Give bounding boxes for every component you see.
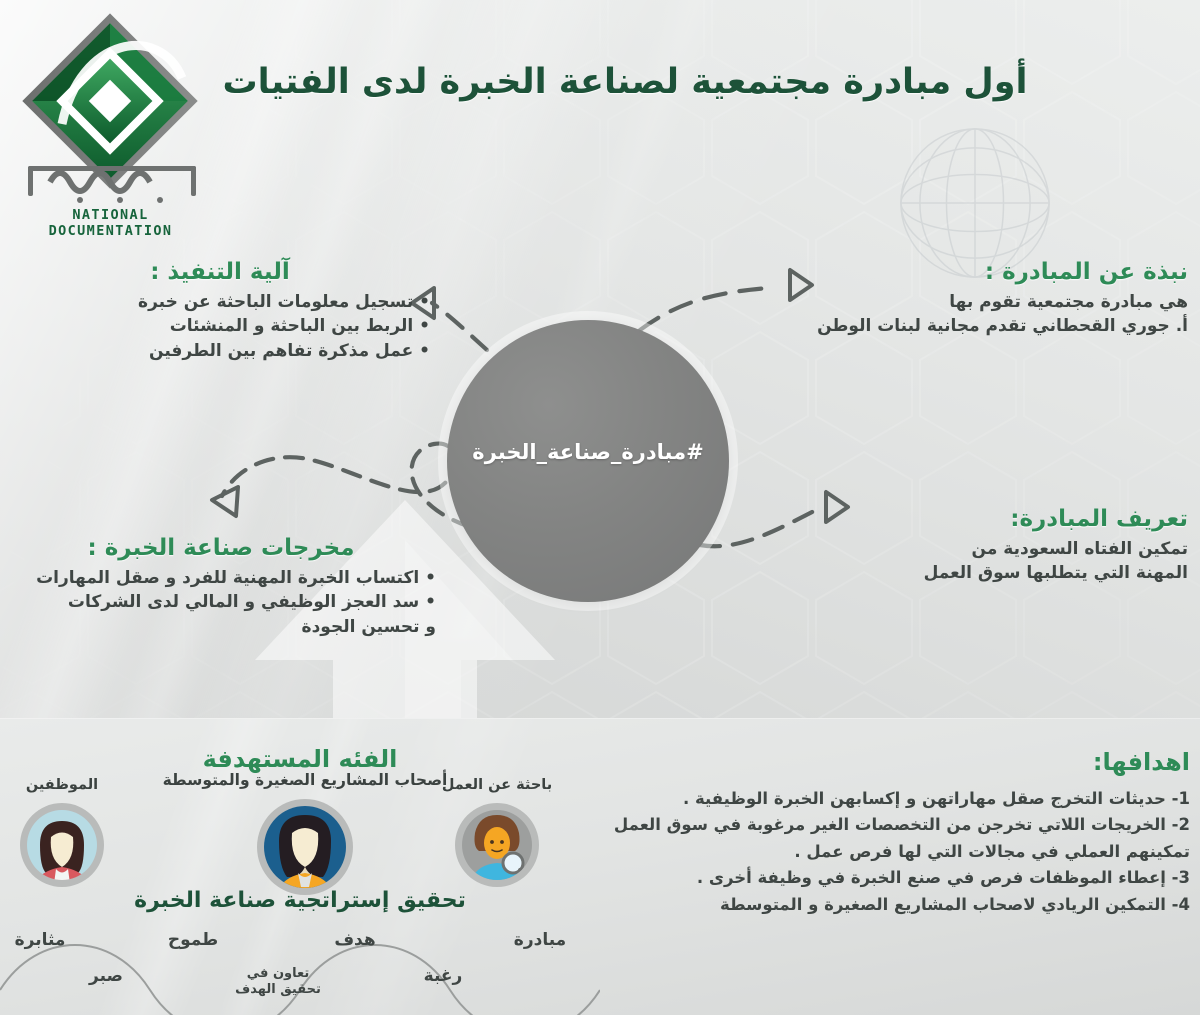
outputs-item: و تحسين الجودة	[6, 615, 436, 640]
definition-line: تمكين الفتاه السعودية من	[708, 537, 1188, 562]
strategy-word: صبر	[56, 966, 156, 986]
page-title: أول مبادرة مجتمعية لصناعة الخبرة لدى الف…	[210, 62, 1040, 102]
mechanism-item: • تسجيل معلومات الباحثة عن خبرة	[10, 290, 430, 315]
about-line: هي مبادرة مجتمعية تقوم بها	[708, 290, 1188, 315]
strategy-word: رغبة	[388, 966, 498, 986]
about-heading: نبذة عن المبادرة :	[708, 258, 1188, 287]
about-initiative-block: نبذة عن المبادرة : هي مبادرة مجتمعية تقو…	[708, 258, 1188, 339]
outputs-block: مخرجات صناعة الخبرة : • اكتساب الخبرة ال…	[6, 534, 436, 640]
outputs-item: • اكتساب الخبرة المهنية للفرد و صقل المه…	[6, 566, 436, 591]
outputs-item: • سد العجز الوظيفي و المالي لدى الشركات	[6, 590, 436, 615]
mechanism-item: • عمل مذكرة تفاهم بين الطرفين	[10, 339, 430, 364]
outputs-heading: مخرجات صناعة الخبرة :	[6, 534, 436, 563]
definition-body: تمكين الفتاه السعودية من المهنة التي يتط…	[708, 537, 1188, 586]
strategy-word: مبادرة	[480, 930, 600, 950]
about-line: أ. جوري القحطاني تقدم مجانية لبنات الوطن	[708, 314, 1188, 339]
goal-item: 3- إعطاء الموظفات فرص في صنع الخبرة في و…	[600, 865, 1190, 891]
entrepreneur-avatar	[253, 795, 357, 899]
about-body: هي مبادرة مجتمعية تقوم بها أ. جوري القحط…	[708, 290, 1188, 339]
infographic-poster: NATIONAL DOCUMENTATION أول مبادرة مجتمعي…	[0, 0, 1200, 1015]
national-documentation-logo	[10, 6, 215, 231]
outputs-body: • اكتساب الخبرة المهنية للفرد و صقل المه…	[6, 566, 436, 640]
mechanism-body: • تسجيل معلومات الباحثة عن خبرة • الربط …	[10, 290, 430, 364]
initiative-hashtag: #مبادرة_صناعة_الخبرة	[447, 440, 729, 464]
strategy-word: مثابرة	[0, 930, 90, 950]
goals-section: اهدافها: 1- حديثات التخرج صقل مهاراتهن و…	[600, 748, 1190, 918]
job-seeker-avatar	[451, 799, 543, 891]
audience-item-entrepreneur: أصحاب المشاريع الصغيرة والمتوسطة	[160, 771, 450, 903]
mechanism-block: آلية التنفيذ : • تسجيل معلومات الباحثة ع…	[10, 258, 430, 364]
goal-item: 2- الخريجات اللاتي تخرجن من التخصصات الغ…	[600, 812, 1190, 865]
strategy-word: طموح	[138, 930, 248, 950]
audience-heading: الفئه المستهدفة	[0, 745, 600, 773]
strategy-section: تحقيق إستراتجية صناعة الخبرة مبادرة رغبة…	[0, 888, 600, 913]
mechanism-heading: آلية التنفيذ :	[10, 258, 430, 287]
strategy-word: تعاون في تحقيق الهدف	[218, 966, 338, 999]
mechanism-item: • الربط بين الباحثة و المنشئات	[10, 314, 430, 339]
goal-item: 4- التمكين الريادي لاصحاب المشاريع الصغي…	[600, 892, 1190, 918]
audience-label: الموظفين	[0, 777, 132, 793]
employee-avatar	[16, 799, 108, 891]
logo-caption: NATIONAL DOCUMENTATION	[8, 207, 213, 239]
definition-heading: تعريف المبادرة:	[708, 505, 1188, 534]
strategy-word: هدف	[300, 930, 410, 950]
definition-block: تعريف المبادرة: تمكين الفتاه السعودية من…	[708, 505, 1188, 586]
goal-item: 1- حديثات التخرج صقل مهاراتهن و إكسابهن …	[600, 786, 1190, 812]
audience-label: أصحاب المشاريع الصغيرة والمتوسطة	[160, 771, 450, 789]
strategy-heading: تحقيق إستراتجية صناعة الخبرة	[0, 888, 600, 913]
audience-item-employee: الموظفين	[0, 777, 132, 895]
goals-heading: اهدافها:	[600, 748, 1190, 776]
definition-line: المهنة التي يتطلبها سوق العمل	[708, 561, 1188, 586]
